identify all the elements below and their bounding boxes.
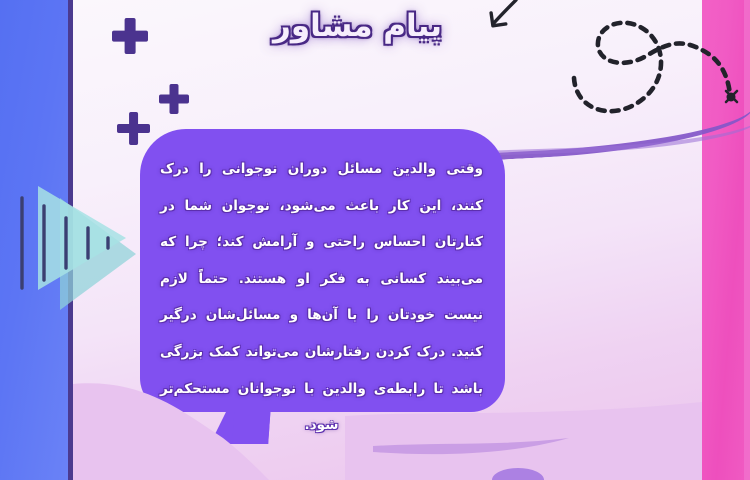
play-triangle-icon — [8, 170, 138, 315]
page-title: پیام مشاور — [0, 8, 715, 44]
poster-canvas: وقتی والدین مسائل دوران نوجوانی را درک ک… — [0, 0, 750, 480]
speech-bubble: وقتی والدین مسائل دوران نوجوانی را درک ک… — [140, 129, 505, 412]
advice-message-text: وقتی والدین مسائل دوران نوجوانی را درک ک… — [140, 129, 505, 412]
plus-mark-2-icon — [159, 84, 189, 114]
